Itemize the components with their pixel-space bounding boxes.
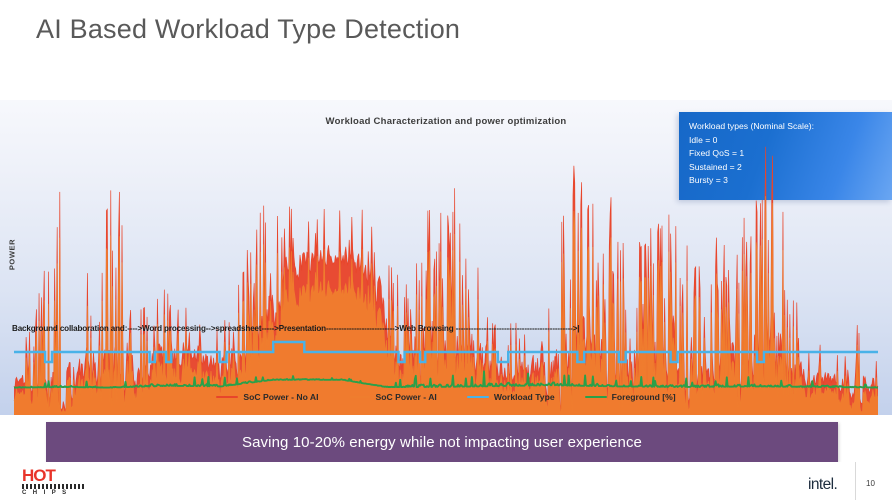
workload-phase-annotation: Background collaboration and:---->Word p… [12, 324, 579, 333]
footer-divider [855, 462, 856, 500]
legend-label: SoC Power - AI [376, 392, 437, 402]
hot-chips-logo: HOT C H I P S [22, 468, 86, 496]
page-title: AI Based Workload Type Detection [36, 14, 460, 45]
workload-foreground-plot [14, 338, 878, 394]
page-number: 10 [866, 479, 875, 488]
legend-swatch-icon [349, 396, 371, 399]
intel-wordmark: intel [808, 476, 833, 493]
legend-swatch-icon [216, 396, 238, 399]
foreground-percent-line [14, 371, 878, 387]
chart-legend: SoC Power - No AISoC Power - AIWorkload … [0, 392, 892, 402]
chart-panel: Workload Characterization and power opti… [0, 100, 892, 415]
legend-swatch-icon [585, 396, 607, 399]
workload-types-heading: Workload types (Nominal Scale): [689, 120, 892, 134]
slide-footer: HOT C H I P S intel. 10 [0, 462, 892, 500]
legend-swatch-icon [467, 396, 489, 399]
legend-label: SoC Power - No AI [243, 392, 318, 402]
intel-dot: . [833, 476, 837, 493]
slide-root: AI Based Workload Type Detection Workloa… [0, 0, 892, 500]
legend-item-1: SoC Power - AI [349, 392, 437, 402]
legend-item-0: SoC Power - No AI [216, 392, 318, 402]
banner-text: Saving 10-20% energy while not impacting… [242, 434, 642, 451]
legend-label: Foreground [%] [612, 392, 676, 402]
hot-chips-subtitle: C H I P S [22, 490, 86, 496]
hot-chips-word: HOT [22, 468, 86, 483]
legend-label: Workload Type [494, 392, 555, 402]
legend-item-2: Workload Type [467, 392, 555, 402]
intel-logo: intel. [808, 476, 837, 494]
legend-item-3: Foreground [%] [585, 392, 676, 402]
workload-type-step-line [14, 342, 878, 362]
key-message-banner: Saving 10-20% energy while not impacting… [46, 422, 838, 462]
